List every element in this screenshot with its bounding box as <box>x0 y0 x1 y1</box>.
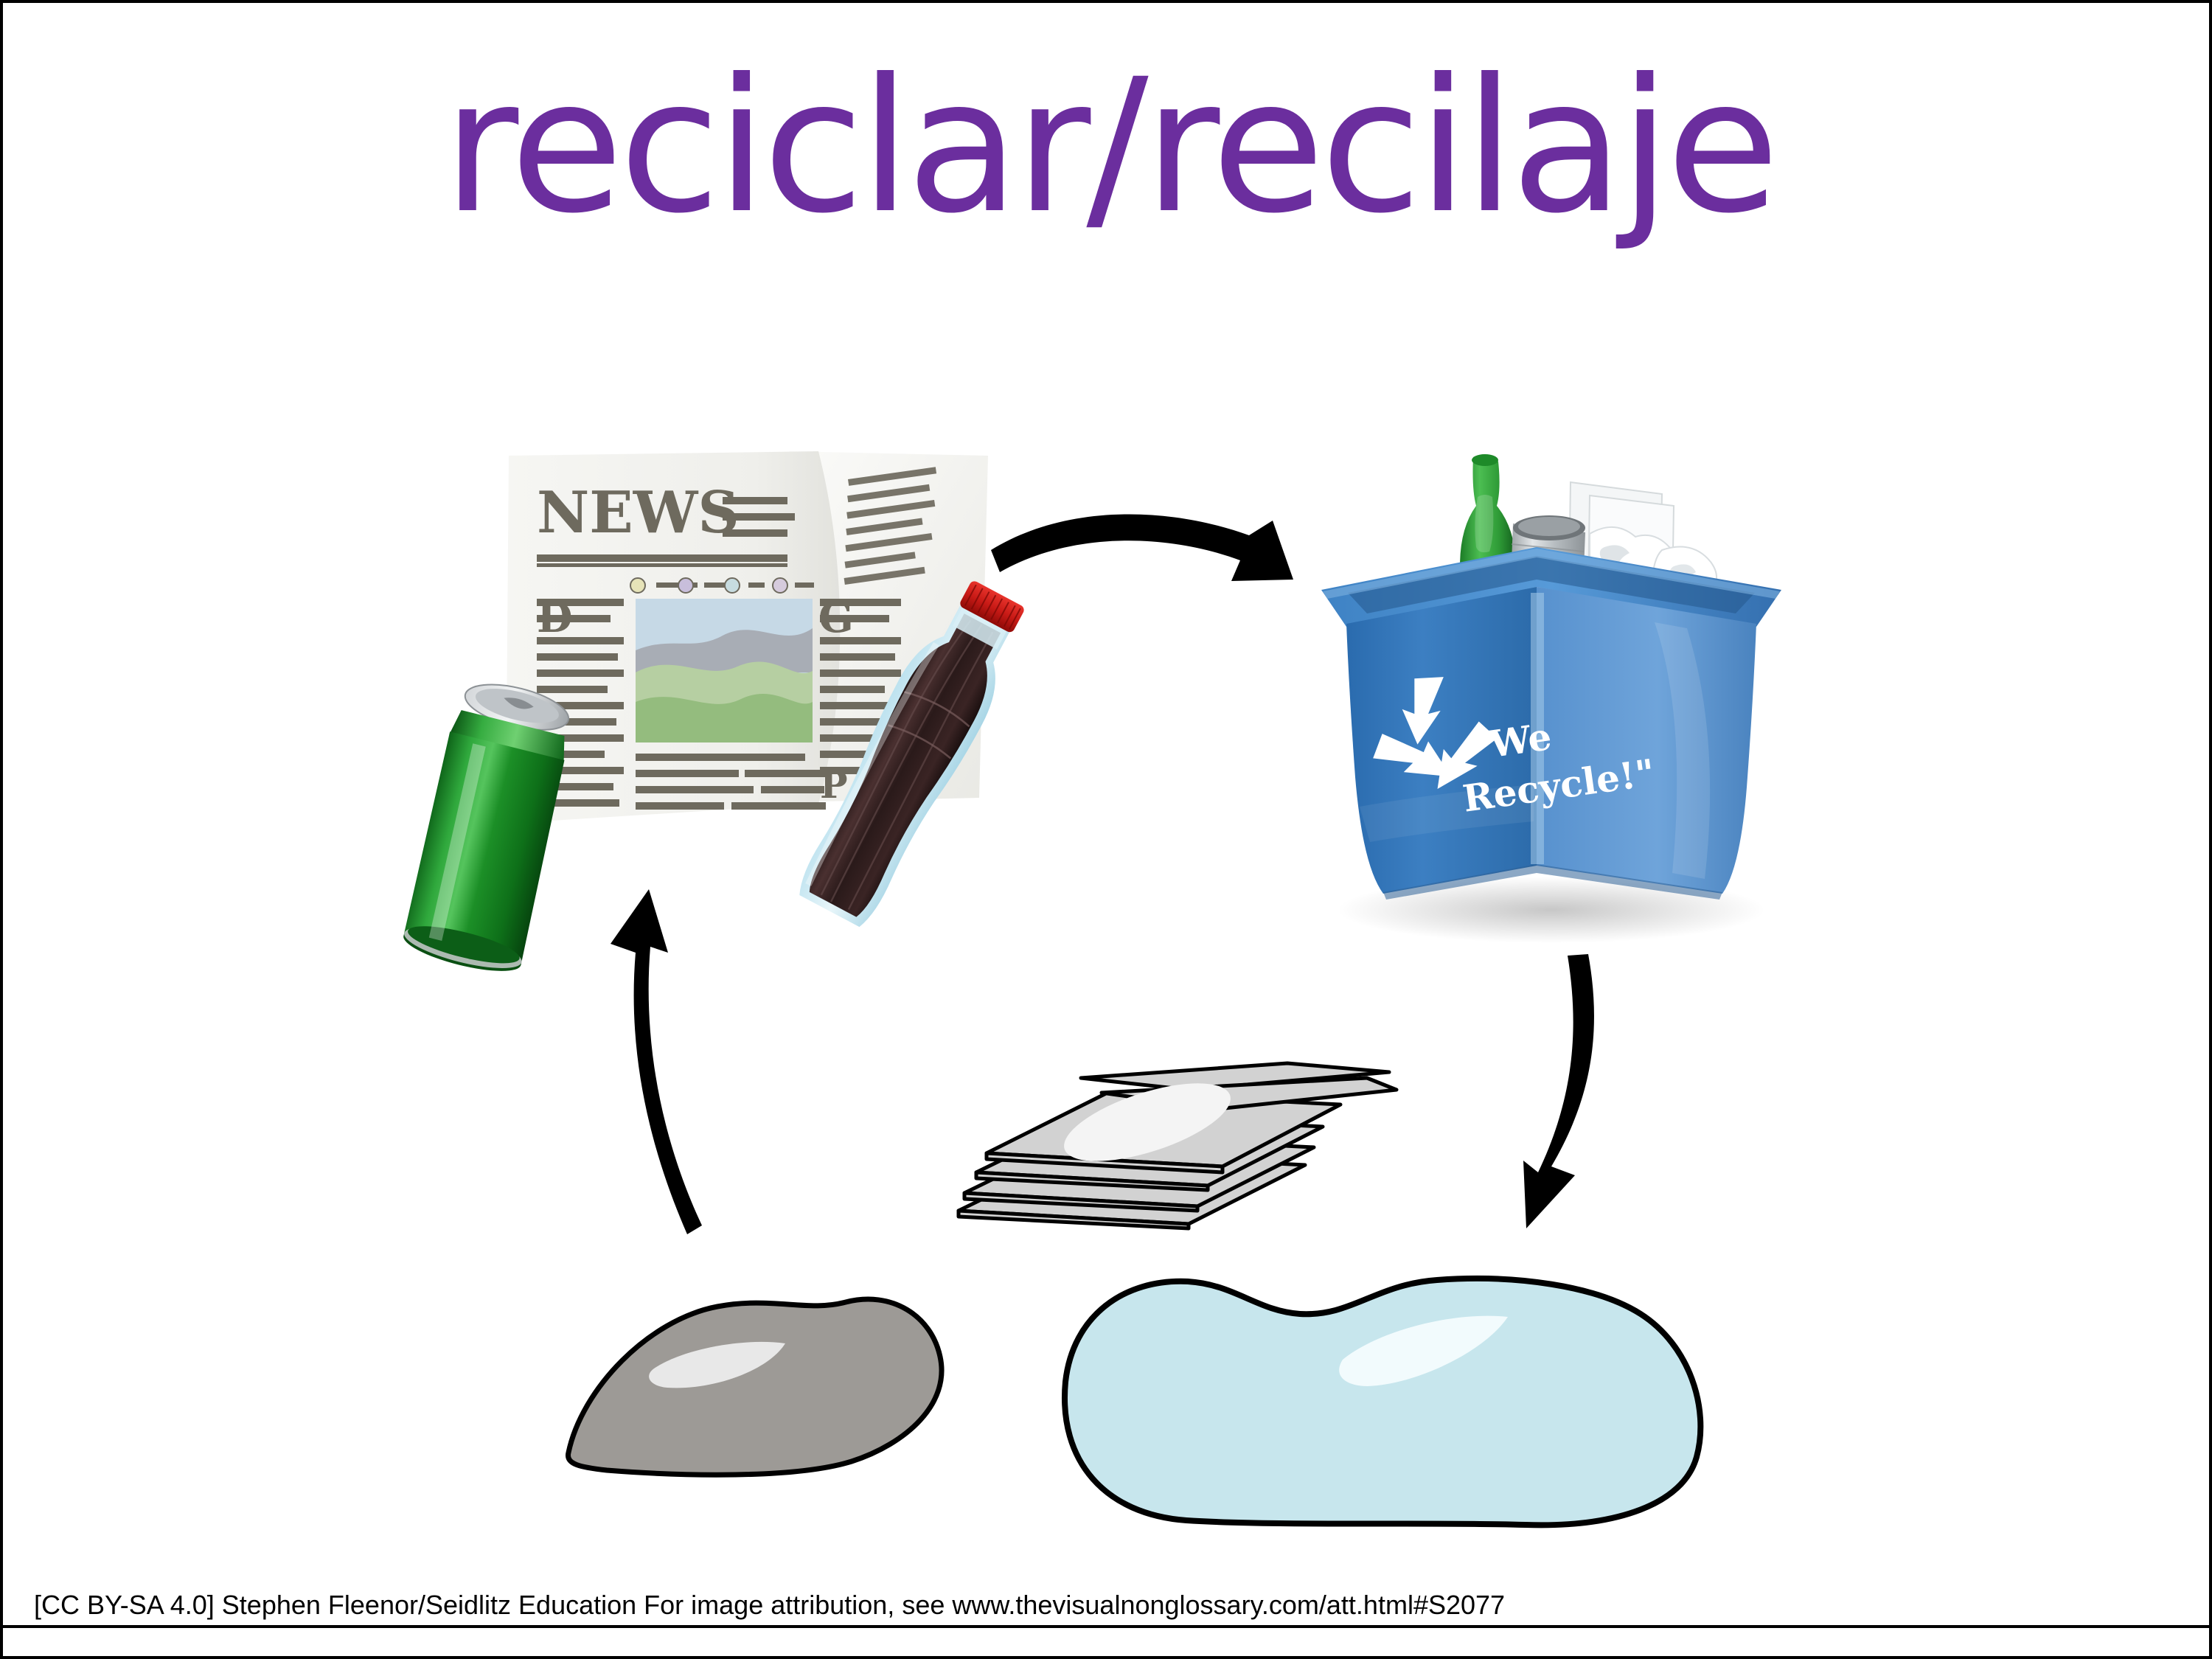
page-title: reciclar/recilaje <box>3 55 2212 239</box>
footer-divider <box>3 1625 2212 1628</box>
metal-blob-icon <box>560 1286 1032 1478</box>
poster-canvas: reciclar/recilaje <box>0 0 2212 1659</box>
newspaper-masthead: NEWS <box>537 479 740 546</box>
arrow-bin-to-processed <box>1522 954 1758 1264</box>
arrow-processed-to-recyclables <box>578 873 785 1249</box>
attribution-text: [CC BY-SA 4.0] Stephen Fleenor/Seidlitz … <box>34 1590 1505 1621</box>
recycling-bin: "We Recycle!" <box>1315 453 1787 954</box>
plastic-blob-icon <box>1054 1271 1739 1537</box>
arrow-recyclables-to-bin <box>984 490 1352 637</box>
sheet-stack-icon <box>954 1057 1426 1256</box>
